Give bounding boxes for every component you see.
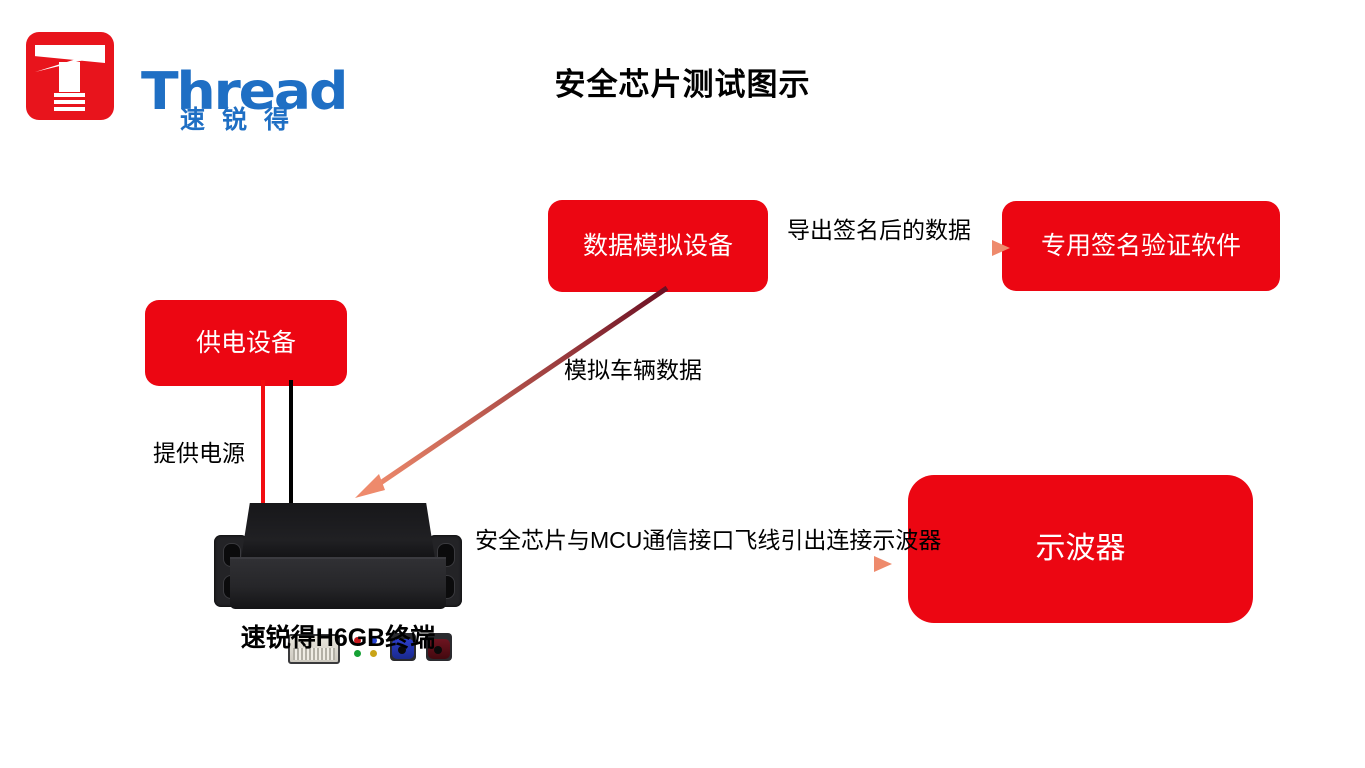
device-front-face [230,559,446,609]
connection-label-scope-line: 安全芯片与MCU通信接口飞线引出连接示波器 [475,521,941,555]
node-power-supply[interactable]: 供电设备 [145,300,347,386]
node-oscilloscope[interactable]: 示波器 [908,475,1253,623]
power-wire-red [261,380,265,508]
arrow-simulated-vehicle-data [345,282,675,504]
page-title: 安全芯片测试图示 [0,59,1365,104]
connection-label-simulated-vehicle-data: 模拟车辆数据 [564,351,702,385]
logo-stripe-3 [54,107,85,111]
slide-canvas: Thread 速锐得 安全芯片测试图示 供电设备 数据模拟设备 专用签名验证软件… [0,0,1365,768]
device-h6gb-terminal-image [212,497,464,615]
node-signature-verification-software[interactable]: 专用签名验证软件 [1002,201,1280,291]
node-data-simulator[interactable]: 数据模拟设备 [548,200,768,292]
device-top-face [240,503,436,565]
connection-label-export-data: 导出签名后的数据 [787,211,971,245]
logo-wordmark-cn: 速锐得 [180,108,306,133]
power-wire-black [289,380,293,508]
device-caption: 速锐得H6GB终端 [212,618,464,654]
connection-label-power: 提供电源 [153,434,245,468]
